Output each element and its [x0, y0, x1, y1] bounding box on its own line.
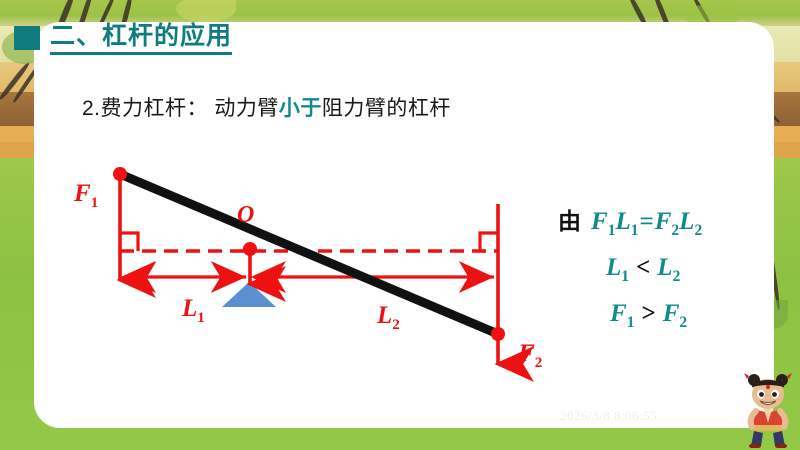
formula-block: 由 F1 L1 = F2 L2 L1 < L2 F1 > F2 [554, 202, 774, 346]
subtitle-suffix: 阻力臂的杠杆 [322, 97, 451, 120]
formula-f2: F2 [655, 208, 679, 240]
formula-less-than-operator: < [636, 254, 650, 282]
label-l1: L1 [182, 295, 205, 327]
right-angle-mark-left [120, 233, 138, 251]
label-l2: L2 [377, 302, 400, 334]
formula-f1: F1 [591, 208, 615, 240]
content-card: 二、杠杆的应用 2.费力杠杆： 动力臂小于阻力臂的杠杆 [34, 22, 774, 428]
lever-bar [120, 174, 498, 334]
subtitle-line: 2.费力杠杆： 动力臂小于阻力臂的杠杆 [82, 92, 451, 122]
label-f2: F2 [518, 340, 542, 372]
fulcrum-triangle-icon [222, 282, 276, 307]
formula-l2: L2 [679, 208, 702, 240]
label-o-fulcrum: O [237, 202, 254, 229]
title-label: 二、杠杆的应用 [50, 22, 232, 55]
lever-right-endpoint-dot [491, 327, 505, 341]
formula-f1-compare: F1 [610, 300, 634, 332]
formula-l2-compare: L2 [657, 254, 680, 286]
subtitle-highlight: 小于 [279, 97, 322, 120]
title-square-bullet-icon [14, 26, 40, 50]
formula-greater-than-operator: > [641, 300, 655, 328]
page-title: 二、杠杆的应用 [48, 22, 232, 55]
formula-line-2: L1 < L2 [554, 254, 774, 286]
formula-line-3: F1 > F2 [554, 300, 774, 332]
formula-f2-compare: F2 [663, 300, 687, 332]
lever-left-endpoint-dot [113, 167, 127, 181]
formula-lead-char: 由 [558, 202, 581, 236]
timestamp-watermark: 2026/3/8 8:06:55 [560, 408, 657, 424]
right-angle-mark-right [480, 233, 498, 251]
formula-l1-compare: L1 [606, 254, 629, 286]
formula-equals-operator: = [639, 208, 653, 236]
subtitle-prefix: 2.费力杠杆： 动力臂 [82, 97, 279, 120]
formula-line-1: 由 F1 L1 = F2 L2 [554, 202, 774, 240]
fulcrum-point-dot [243, 242, 257, 256]
mascot-character [740, 372, 796, 448]
lever-diagram: F1 F2 O L1 L2 [74, 152, 544, 402]
formula-l1: L1 [615, 208, 638, 240]
label-f1: F1 [74, 180, 98, 212]
